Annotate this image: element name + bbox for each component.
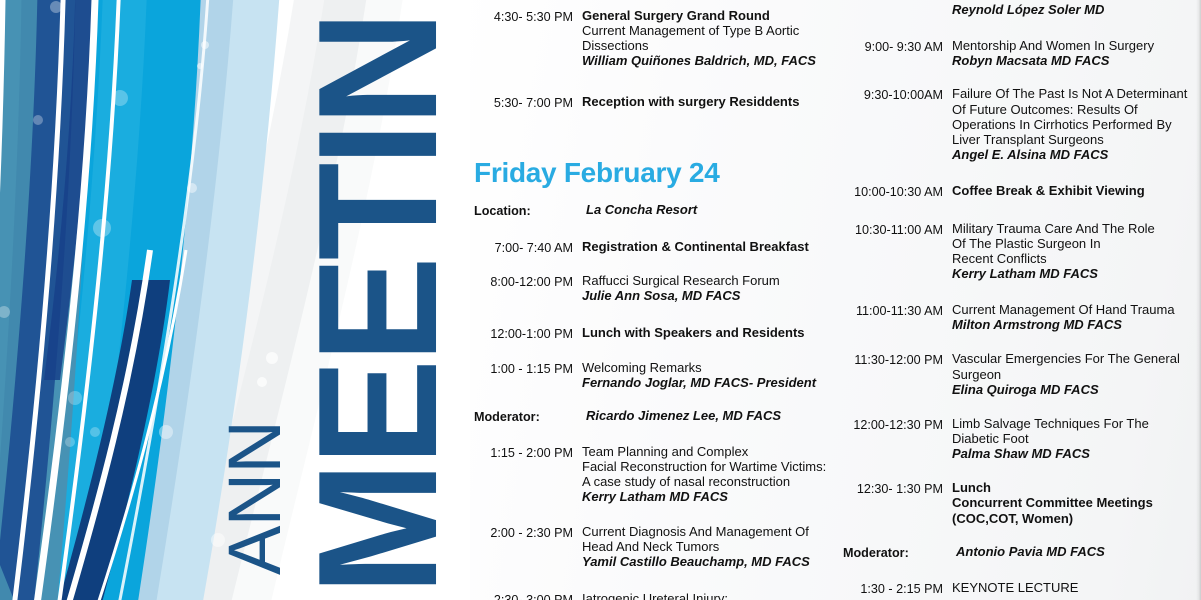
moderator-label: Moderator: bbox=[839, 544, 956, 563]
schedule-row-time: 12:00-12:30 PM bbox=[839, 416, 952, 435]
schedule-row-time: 4:30- 5:30 PM bbox=[470, 8, 582, 27]
schedule-row-description: Reynold López Soler MD bbox=[952, 2, 1189, 17]
schedule-row-description: Military Trauma Care And The RoleOf The … bbox=[952, 221, 1189, 282]
session-line: Welcoming Remarks bbox=[582, 360, 830, 375]
session-line: Mentorship And Women In Surgery bbox=[952, 38, 1189, 53]
session-line: Vascular Emergencies For The General bbox=[952, 351, 1189, 366]
schedule-row: 1:30 - 2:15 PMKEYNOTE LECTURE bbox=[839, 580, 1189, 599]
session-line: Lunch bbox=[952, 480, 1189, 495]
schedule-row-time: 9:00- 9:30 AM bbox=[839, 38, 952, 57]
schedule-label-row: Moderator:Ricardo Jimenez Lee, MD FACS bbox=[470, 408, 830, 427]
session-line: Of The Plastic Surgeon In bbox=[952, 236, 1189, 251]
schedule-label-row: Moderator:Antonio Pavia MD FACS bbox=[839, 544, 1189, 563]
schedule-row: 9:00- 9:30 AMMentorship And Women In Sur… bbox=[839, 38, 1189, 68]
session-line: Of Future Outcomes: Results Of bbox=[952, 102, 1189, 117]
schedule-row: 12:30- 1:30 PMLunchConcurrent Committee … bbox=[839, 480, 1189, 525]
session-line: Diabetic Foot bbox=[952, 431, 1189, 446]
cover-artwork: ANN MEETIN bbox=[0, 0, 470, 600]
session-line: (COC,COT, Women) bbox=[952, 511, 1189, 526]
speaker-name: Reynold López Soler MD bbox=[952, 2, 1189, 17]
speaker-name: Robyn Macsata MD FACS bbox=[952, 53, 1189, 68]
schedule-row-description: Mentorship And Women In SurgeryRobyn Mac… bbox=[952, 38, 1189, 68]
schedule-row-description: Current Diagnosis And Management OfHead … bbox=[582, 524, 830, 569]
session-line: Facial Reconstruction for Wartime Victim… bbox=[582, 459, 830, 474]
speaker-name: Fernando Joglar, MD FACS- President bbox=[582, 375, 830, 390]
schedule-row-time: 12:30- 1:30 PM bbox=[839, 480, 952, 499]
session-line: Concurrent Committee Meetings bbox=[952, 495, 1189, 510]
moderator-value-wrap: Ricardo Jimenez Lee, MD FACS bbox=[586, 408, 830, 423]
session-line: Current Management of Type B Aortic bbox=[582, 23, 830, 38]
schedule-row-description: Coffee Break & Exhibit Viewing bbox=[952, 183, 1189, 198]
schedule-row-time: 10:00-10:30 AM bbox=[839, 183, 952, 202]
schedule-column-middle: 4:30- 5:30 PMGeneral Surgery Grand Round… bbox=[470, 0, 830, 600]
session-line: A case study of nasal reconstruction bbox=[582, 474, 830, 489]
schedule-row-time: 10:30-11:00 AM bbox=[839, 221, 952, 240]
schedule-row-description: Iatrogenic Ureteral Injury: bbox=[582, 591, 830, 600]
speaker-name: Kerry Latham MD FACS bbox=[952, 266, 1189, 281]
schedule-row-description: Registration & Continental Breakfast bbox=[582, 239, 830, 254]
schedule-row-time: 1:15 - 2:00 PM bbox=[470, 444, 582, 463]
page-edge-shadow bbox=[1196, 0, 1201, 600]
schedule-row: 1:00 - 1:15 PMWelcoming RemarksFernando … bbox=[470, 360, 830, 390]
session-line: Reception with surgery Residdents bbox=[582, 94, 830, 109]
schedule-label-row: Location:La Concha Resort bbox=[470, 202, 830, 221]
session-line: Military Trauma Care And The Role bbox=[952, 221, 1189, 236]
session-line: Team Planning and Complex bbox=[582, 444, 830, 459]
speaker-name: Yamil Castillo Beauchamp, MD FACS bbox=[582, 554, 830, 569]
schedule-row-description: Vascular Emergencies For The GeneralSurg… bbox=[952, 351, 1189, 396]
schedule-row-time: 1:30 - 2:15 PM bbox=[839, 580, 952, 599]
moderator-value-wrap: Antonio Pavia MD FACS bbox=[956, 544, 1189, 559]
schedule-row-description: Current Management Of Hand TraumaMilton … bbox=[952, 302, 1189, 332]
schedule-row-time: 5:30- 7:00 PM bbox=[470, 94, 582, 113]
schedule-row-description: Failure Of The Past Is Not A Determinant… bbox=[952, 86, 1189, 162]
schedule-row: 10:00-10:30 AMCoffee Break & Exhibit Vie… bbox=[839, 183, 1189, 202]
moderator-value: Ricardo Jimenez Lee, MD FACS bbox=[586, 408, 830, 423]
session-line: Current Diagnosis And Management Of bbox=[582, 524, 830, 539]
schedule-row: 2:30- 3:00 PMIatrogenic Ureteral Injury: bbox=[470, 591, 830, 600]
schedule-row: 2:00 - 2:30 PMCurrent Diagnosis And Mana… bbox=[470, 524, 830, 569]
schedule-row: 4:30- 5:30 PMGeneral Surgery Grand Round… bbox=[470, 8, 830, 69]
session-line: Lunch with Speakers and Residents bbox=[582, 325, 830, 340]
schedule-row-time: 2:00 - 2:30 PM bbox=[470, 524, 582, 543]
schedule-row-time: 8:00-12:00 PM bbox=[470, 273, 582, 292]
session-line: KEYNOTE LECTURE bbox=[952, 580, 1189, 595]
schedule-row-time: 11:00-11:30 AM bbox=[839, 302, 952, 321]
schedule-row-description: Team Planning and ComplexFacial Reconstr… bbox=[582, 444, 830, 505]
session-line: Operations In Cirrhotics Performed By bbox=[952, 117, 1189, 132]
schedule-row: 8:00-12:00 PMRaffucci Surgical Research … bbox=[470, 273, 830, 303]
conference-program-page: ANN MEETIN 4:30- 5:30 PMGeneral Surgery … bbox=[0, 0, 1201, 600]
location-value: La Concha Resort bbox=[586, 202, 830, 217]
session-line: Registration & Continental Breakfast bbox=[582, 239, 830, 254]
session-line: Current Management Of Hand Trauma bbox=[952, 302, 1189, 317]
cover-word-annual: ANN bbox=[226, 421, 284, 575]
speaker-name: Milton Armstrong MD FACS bbox=[952, 317, 1189, 332]
cover-word-meeting: MEETIN bbox=[312, 15, 444, 595]
schedule-row: Reynold López Soler MD bbox=[839, 2, 1189, 17]
schedule-row: 1:15 - 2:00 PMTeam Planning and ComplexF… bbox=[470, 444, 830, 505]
schedule-row-description: General Surgery Grand RoundCurrent Manag… bbox=[582, 8, 830, 69]
day-heading: Friday February 24 bbox=[474, 157, 830, 189]
session-line: Surgeon bbox=[952, 367, 1189, 382]
session-line: General Surgery Grand Round bbox=[582, 8, 830, 23]
speaker-name: Angel E. Alsina MD FACS bbox=[952, 147, 1189, 162]
location-value-wrap: La Concha Resort bbox=[586, 202, 830, 217]
session-line: Dissections bbox=[582, 38, 830, 53]
schedule-row: 11:30-12:00 PMVascular Emergencies For T… bbox=[839, 351, 1189, 396]
schedule-row-description: Welcoming RemarksFernando Joglar, MD FAC… bbox=[582, 360, 830, 390]
schedule-row-description: Limb Salvage Techniques For TheDiabetic … bbox=[952, 416, 1189, 461]
schedule-row-description: Reception with surgery Residdents bbox=[582, 94, 830, 109]
schedule-row: 5:30- 7:00 PMReception with surgery Resi… bbox=[470, 94, 830, 113]
moderator-label: Moderator: bbox=[470, 408, 586, 427]
schedule-row: 7:00- 7:40 AMRegistration & Continental … bbox=[470, 239, 830, 258]
schedule-row-description: LunchConcurrent Committee Meetings(COC,C… bbox=[952, 480, 1189, 525]
schedule-row-time: 12:00-1:00 PM bbox=[470, 325, 582, 344]
session-line: Raffucci Surgical Research Forum bbox=[582, 273, 830, 288]
session-line: Head And Neck Tumors bbox=[582, 539, 830, 554]
schedule-row-description: Raffucci Surgical Research ForumJulie An… bbox=[582, 273, 830, 303]
schedule-row-time: 9:30-10:00AM bbox=[839, 86, 952, 105]
session-line: Failure Of The Past Is Not A Determinant bbox=[952, 86, 1189, 101]
schedule-row: 10:30-11:00 AMMilitary Trauma Care And T… bbox=[839, 221, 1189, 282]
speaker-name: Kerry Latham MD FACS bbox=[582, 489, 830, 504]
schedule-row-time: 7:00- 7:40 AM bbox=[470, 239, 582, 258]
session-line: Liver Transplant Surgeons bbox=[952, 132, 1189, 147]
session-line: Iatrogenic Ureteral Injury: bbox=[582, 591, 830, 600]
schedule-row-time: 11:30-12:00 PM bbox=[839, 351, 952, 370]
schedule-row-time: 2:30- 3:00 PM bbox=[470, 591, 582, 600]
schedule-row: 9:30-10:00AMFailure Of The Past Is Not A… bbox=[839, 86, 1189, 162]
speaker-name: Palma Shaw MD FACS bbox=[952, 446, 1189, 461]
schedule-row: 12:00-12:30 PMLimb Salvage Techniques Fo… bbox=[839, 416, 1189, 461]
schedule-column-right: Reynold López Soler MD9:00- 9:30 AMMento… bbox=[839, 0, 1189, 599]
speaker-name: Julie Ann Sosa, MD FACS bbox=[582, 288, 830, 303]
location-label: Location: bbox=[470, 202, 586, 221]
schedule-row-description: Lunch with Speakers and Residents bbox=[582, 325, 830, 340]
session-line: Coffee Break & Exhibit Viewing bbox=[952, 183, 1189, 198]
schedule-row-time: 1:00 - 1:15 PM bbox=[470, 360, 582, 379]
session-line: Recent Conflicts bbox=[952, 251, 1189, 266]
speaker-name: Elina Quiroga MD FACS bbox=[952, 382, 1189, 397]
session-line: Limb Salvage Techniques For The bbox=[952, 416, 1189, 431]
speaker-name: William Quiñones Baldrich, MD, FACS bbox=[582, 53, 830, 68]
schedule-row: 11:00-11:30 AMCurrent Management Of Hand… bbox=[839, 302, 1189, 332]
schedule-row: 12:00-1:00 PMLunch with Speakers and Res… bbox=[470, 325, 830, 344]
moderator-value: Antonio Pavia MD FACS bbox=[956, 544, 1189, 559]
schedule-row-description: KEYNOTE LECTURE bbox=[952, 580, 1189, 595]
